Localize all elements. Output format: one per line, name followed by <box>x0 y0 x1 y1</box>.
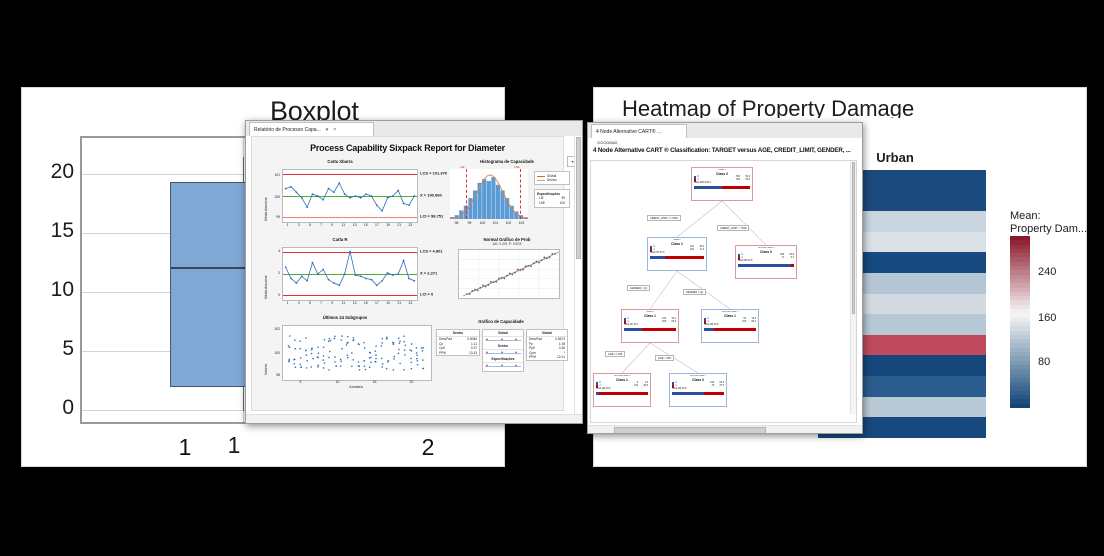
whisker-lower <box>243 386 244 411</box>
cart-breadcrumb-label: GOODBAD <box>597 140 617 145</box>
x-tick: 13 <box>353 223 357 227</box>
cart-tree-canvas[interactable]: Node 1Class 0050050.0150050.0Total 1000 … <box>590 160 857 423</box>
x-tick: 23 <box>409 223 413 227</box>
x-tick: 7 <box>320 223 322 227</box>
cart-node-table: 013062.517837.5Total 208 20.8 <box>672 382 724 395</box>
cart-node-table: 094.5119095.5Total 199 19.9 <box>596 382 648 395</box>
screenshot-root: Boxplot 20 15 10 5 0 1 Heatmap of <box>0 0 1104 556</box>
x-tick: 3 <box>298 223 300 227</box>
y-tick-20: 20 <box>28 160 74 184</box>
x-tick: 3 <box>298 301 300 305</box>
r-ucl-label: LCS = 4.801 <box>420 249 443 254</box>
r-ytick-0: 0 <box>260 293 280 297</box>
x-tick: 101 <box>493 221 499 225</box>
colorbar <box>1010 236 1030 408</box>
legend-swatch-global <box>537 176 545 177</box>
x-tick: 99 <box>468 221 472 225</box>
cart-node[interactable]: Node 1Class 0050050.0150050.0Total 1000 … <box>691 167 753 201</box>
cart-node-bar <box>704 328 756 331</box>
xbar-ucl-label: LCS = 101.370 <box>420 171 447 176</box>
spec-legend: Especificações LIE99 LSE100 <box>534 189 570 208</box>
stats-global-header: Global <box>527 330 567 337</box>
stat-value: 12.01 <box>557 355 565 360</box>
cart-bar-class0 <box>650 256 665 259</box>
cart-class-pct: 65.9 <box>667 321 676 324</box>
capability-graph: Gráfico de Capacidade Dentro DesvPad0.50… <box>434 319 568 393</box>
cart-class-count: 78 <box>684 385 714 388</box>
last-subgroups-chart: Últimos 24 Subgrupos Valores 102 100 98 … <box>260 315 440 393</box>
cart-node[interactable]: Node 2Class 1019228.4148371.6Total 675 6… <box>647 237 707 271</box>
y-tick-5: 5 <box>28 337 74 361</box>
x-tick: 19 <box>386 223 390 227</box>
capability-histogram: Histograma de Capacidade LIE LSE 9899100… <box>448 159 566 231</box>
capability-graph-title: Gráfico de Capacidade <box>434 319 568 324</box>
x-tick: 11 <box>342 223 346 227</box>
report-title: Process Capability Sixpack Report for Di… <box>252 137 563 157</box>
cart-split-label: GENDER = (1) <box>627 285 650 291</box>
cart-node-bar <box>624 328 676 331</box>
x-tick: 103 <box>519 221 525 225</box>
xbar-ytick-100: 100 <box>260 195 280 199</box>
histogram-title: Histograma de Capacidade <box>448 159 566 164</box>
xbar-center-label: X = 100.060 <box>420 193 442 198</box>
cart-bar-class1 <box>665 256 704 259</box>
cart-class-count: 215 <box>716 321 746 324</box>
xbar-ytick-99: 99 <box>260 215 280 219</box>
cart-node-total: Total 325 32.5 <box>738 260 794 263</box>
cart-node-bar <box>596 392 648 395</box>
x-tick: 98 <box>455 221 459 225</box>
cart-bar-class0 <box>694 186 722 189</box>
strip-spec-label: Especificações <box>483 356 523 363</box>
cart-tab-label: 4 Node Alternative CART® ... <box>596 129 661 135</box>
cart-node[interactable]: Terminal Node 5Class 105319.8121580.2Tot… <box>701 309 759 343</box>
x-tick: 20 <box>410 380 414 384</box>
histogram-legend: Global Dentro <box>534 171 570 185</box>
cart-node-total: Total 675 67.5 <box>650 252 704 255</box>
cart-vertical-scrollbar[interactable] <box>850 161 856 414</box>
cart-window-body: GOODBAD 4 Node Alternative CART ® Classi… <box>588 138 862 433</box>
r-ytick-2: 2 <box>260 271 280 275</box>
cart-split-label: AGE > 325 <box>655 355 674 361</box>
page-number-2: 2 <box>388 434 468 461</box>
stat-name: PPM <box>439 351 446 356</box>
cart-node-bar <box>650 256 704 259</box>
boxplot-y-axis-labels: 20 15 10 5 0 <box>22 136 74 424</box>
cart-classification-window[interactable]: 4 Node Alternative CART® ... GOODBAD 4 N… <box>587 122 863 434</box>
spec-lse-name: LSE <box>539 201 545 206</box>
cart-class-pct: 5.2 <box>785 257 794 260</box>
window-tabstrip: Relatório de Processo Capa... ▾ × <box>246 121 582 137</box>
heatmap-title: Heatmap of Property Damage <box>622 96 914 118</box>
xbar-chart-title: Carta Xbarra <box>260 159 420 164</box>
subgroups-ytick-100: 100 <box>260 351 280 355</box>
cart-split-label: CREDIT_LIMIT > 7540 <box>717 225 749 231</box>
cart-bar-class1 <box>642 328 676 331</box>
histogram-plot-area <box>450 169 528 219</box>
r-lcl-label: LCI = 0 <box>420 292 433 297</box>
subgroups-ytick-102: 102 <box>260 327 280 331</box>
stat-name: PPM <box>529 355 536 360</box>
normal-plot-subtitle: AD: 0.201 P: 0.878 <box>448 242 566 246</box>
stat-row-dentro: PPM13.43 <box>437 351 479 356</box>
cart-node[interactable]: Node 4Class 1013934.1126865.9Total 407 4… <box>621 309 679 343</box>
cart-node-total: Total 268 26.8 <box>704 324 756 327</box>
cart-split-label: CREDIT_LIMIT <= 7540 <box>647 215 681 221</box>
x-tick: 17 <box>375 223 379 227</box>
cart-node-bar <box>672 392 724 395</box>
cart-class-count: 483 <box>662 249 694 252</box>
r-plot-area <box>282 247 418 301</box>
cart-bar-class0 <box>672 392 704 395</box>
x-tick: 15 <box>364 223 368 227</box>
cart-window-tab[interactable]: 4 Node Alternative CART® ... <box>591 124 687 139</box>
sixpack-report: Process Capability Sixpack Report for Di… <box>251 136 564 411</box>
whisker-upper <box>243 157 244 182</box>
xbar-chart: Carta Xbarra Média Amostral 101 100 99 L… <box>260 159 440 231</box>
cart-node-bar <box>738 264 794 267</box>
colorbar-tick-80: 80 <box>1038 356 1050 368</box>
x-tick: 100 <box>480 221 486 225</box>
legend-entry-dentro: Dentro <box>547 178 557 182</box>
x-tick: 15 <box>373 380 377 384</box>
legend-swatch-dentro <box>537 180 545 181</box>
cart-bar-class1 <box>704 392 724 395</box>
process-capability-window[interactable]: Relatório de Processo Capa... ▾ × MELHOR… <box>245 120 583 424</box>
y-tick-15: 15 <box>28 219 74 243</box>
x-tick: 13 <box>353 301 357 305</box>
cart-horizontal-scroll-thumb[interactable] <box>614 427 766 434</box>
cart-class-count: 268 <box>636 321 666 324</box>
cart-horizontal-scrollbar[interactable] <box>588 425 862 433</box>
close-icon[interactable]: × <box>333 127 336 133</box>
cart-class-pct: 50.0 <box>741 179 750 182</box>
normal-prob-plot: Normal Gráfico de Prob AD: 0.201 P: 0.87… <box>448 237 566 311</box>
cart-class-count: 17 <box>750 257 784 260</box>
spec-strips: Global Dentro Especificações <box>482 329 524 372</box>
strip-dentro-label: Dentro <box>483 343 523 350</box>
x-tick: 9 <box>331 223 333 227</box>
xbar-plot-area <box>282 169 418 223</box>
cart-node-table: 013934.1126865.9Total 407 40.7 <box>624 318 676 331</box>
r-chart: Carta R Média Amostral 4 2 0 LCS = 4.801… <box>260 237 440 309</box>
x-tick: 15 <box>364 301 368 305</box>
stats-dentro: Dentro DesvPad0.5066Cp1.11CpK0.37PPM13.4… <box>436 329 480 356</box>
cart-node-table: 05319.8121580.2Total 268 26.8 <box>704 318 756 331</box>
x-tick: 7 <box>320 301 322 305</box>
cart-bar-class1 <box>722 186 750 189</box>
cart-bar-class1 <box>599 392 648 395</box>
x-tick: 102 <box>506 221 512 225</box>
x-tick: 21 <box>397 223 401 227</box>
spec-lse-val: 100 <box>560 201 565 206</box>
stats-dentro-header: Dentro <box>437 330 479 337</box>
cart-window-tabstrip: 4 Node Alternative CART® ... <box>588 123 862 139</box>
cart-class-count: 500 <box>706 179 740 182</box>
page-number-1: 1 <box>145 434 225 461</box>
r-ytick-4: 4 <box>260 249 280 253</box>
colorbar-segment <box>1010 404 1030 408</box>
heatmap-legend: Mean: Property Dam... 240 160 80 <box>1010 210 1088 236</box>
r-chart-title: Carta R <box>260 237 420 242</box>
cart-node[interactable]: Terminal Node 3Class 0030894.81175.2Tota… <box>735 245 797 279</box>
cart-split-label: GENDER = (2) <box>683 289 706 295</box>
cart-window-heading: 4 Node Alternative CART ® Classification… <box>588 147 862 157</box>
cart-node-total: Total 407 40.7 <box>624 324 676 327</box>
x-tick: 17 <box>375 301 379 305</box>
cart-node-total: Total 199 19.9 <box>596 388 648 391</box>
cart-bar-class0 <box>624 328 642 331</box>
tab-label: Relatório de Processo Capa... <box>254 127 321 133</box>
cart-node-table: 030894.81175.2Total 325 32.5 <box>738 254 794 267</box>
stats-global: Global DesvPad0.5673Pp1.08PpK0.36Cpm*PPM… <box>526 329 568 361</box>
y-tick-10: 10 <box>28 278 74 302</box>
cart-class-pct: 95.5 <box>639 385 648 388</box>
x-tick: 5 <box>300 380 302 384</box>
cart-bar-class0 <box>704 328 714 331</box>
legend-title-line1: Mean: <box>1010 210 1088 223</box>
cart-breadcrumb: GOODBAD <box>588 138 862 147</box>
window-body: MELHORIADEPROCESSOS.MTW Process Capabili… <box>246 136 582 423</box>
cart-class-pct: 80.2 <box>747 321 756 324</box>
x-tick: 10 <box>336 380 340 384</box>
subgroups-ytick-98: 98 <box>260 373 280 377</box>
colorbar-tick-240: 240 <box>1038 266 1056 278</box>
subgroups-plot-area <box>282 325 432 381</box>
cart-node-table: 050050.0150050.0Total 1000 100.0 <box>694 176 750 189</box>
strip-global <box>483 337 523 343</box>
x-tick: 1 <box>287 301 289 305</box>
cart-node-bar <box>694 186 750 189</box>
xbar-ytick-101: 101 <box>260 173 280 177</box>
cart-vertical-scroll-thumb[interactable] <box>852 162 855 314</box>
usl-line <box>520 169 521 219</box>
stat-row-global: PPM12.01 <box>527 355 567 360</box>
colorbar-tick-160: 160 <box>1038 312 1056 324</box>
chevron-down-icon[interactable]: ▾ <box>326 127 329 133</box>
cart-node-total: Total 208 20.8 <box>672 388 724 391</box>
subgroups-title: Últimos 24 Subgrupos <box>260 315 430 320</box>
vertical-scrollbar[interactable] <box>574 136 582 423</box>
cart-bar-class1 <box>791 264 794 267</box>
vertical-scroll-thumb[interactable] <box>576 137 581 259</box>
legend-title-line2: Property Dam... <box>1010 223 1088 236</box>
cart-bar-class0 <box>738 264 791 267</box>
x-tick: 19 <box>386 301 390 305</box>
x-tick: 5 <box>309 301 311 305</box>
cart-class-count: 190 <box>608 385 638 388</box>
cart-split-label: AGE <= 325 <box>605 351 625 357</box>
horizontal-scrollbar[interactable] <box>246 414 582 423</box>
cart-bar-class1 <box>714 328 756 331</box>
strip-dentro <box>483 350 523 356</box>
window-tab[interactable]: Relatório de Processo Capa... ▾ × <box>249 122 374 137</box>
y-tick-0: 0 <box>28 396 74 420</box>
cart-class-pct: 71.6 <box>695 249 704 252</box>
xbar-lcl-label: LCI = 98.751 <box>420 214 443 219</box>
cart-node[interactable]: Terminal Node 6Class 1094.5119095.5Total… <box>593 373 651 407</box>
subgroups-x-axis-label: Amostra <box>282 385 430 389</box>
lsl-label: LIE <box>460 165 465 169</box>
stat-value: 13.43 <box>469 351 477 356</box>
cart-node[interactable]: Terminal Node 7Class 0013062.517837.5Tot… <box>669 373 727 407</box>
x-tick: 5 <box>309 223 311 227</box>
r-center-label: X = 2.271 <box>420 271 437 276</box>
cart-node-table: 019228.4148371.6Total 675 67.5 <box>650 246 704 259</box>
x-tick: 11 <box>342 301 346 305</box>
normal-plot-area <box>458 249 560 299</box>
x-tick: 23 <box>409 301 413 305</box>
strip-global-label: Global <box>483 330 523 337</box>
lsl-line <box>466 169 467 219</box>
x-tick: 1 <box>287 223 289 227</box>
x-tick: 9 <box>331 301 333 305</box>
cart-node-total: Total 1000 100.0 <box>694 182 750 185</box>
cart-class-pct: 37.5 <box>715 385 724 388</box>
strip-spec <box>483 363 523 369</box>
usl-label: LSE <box>514 165 520 169</box>
x-tick: 21 <box>397 301 401 305</box>
